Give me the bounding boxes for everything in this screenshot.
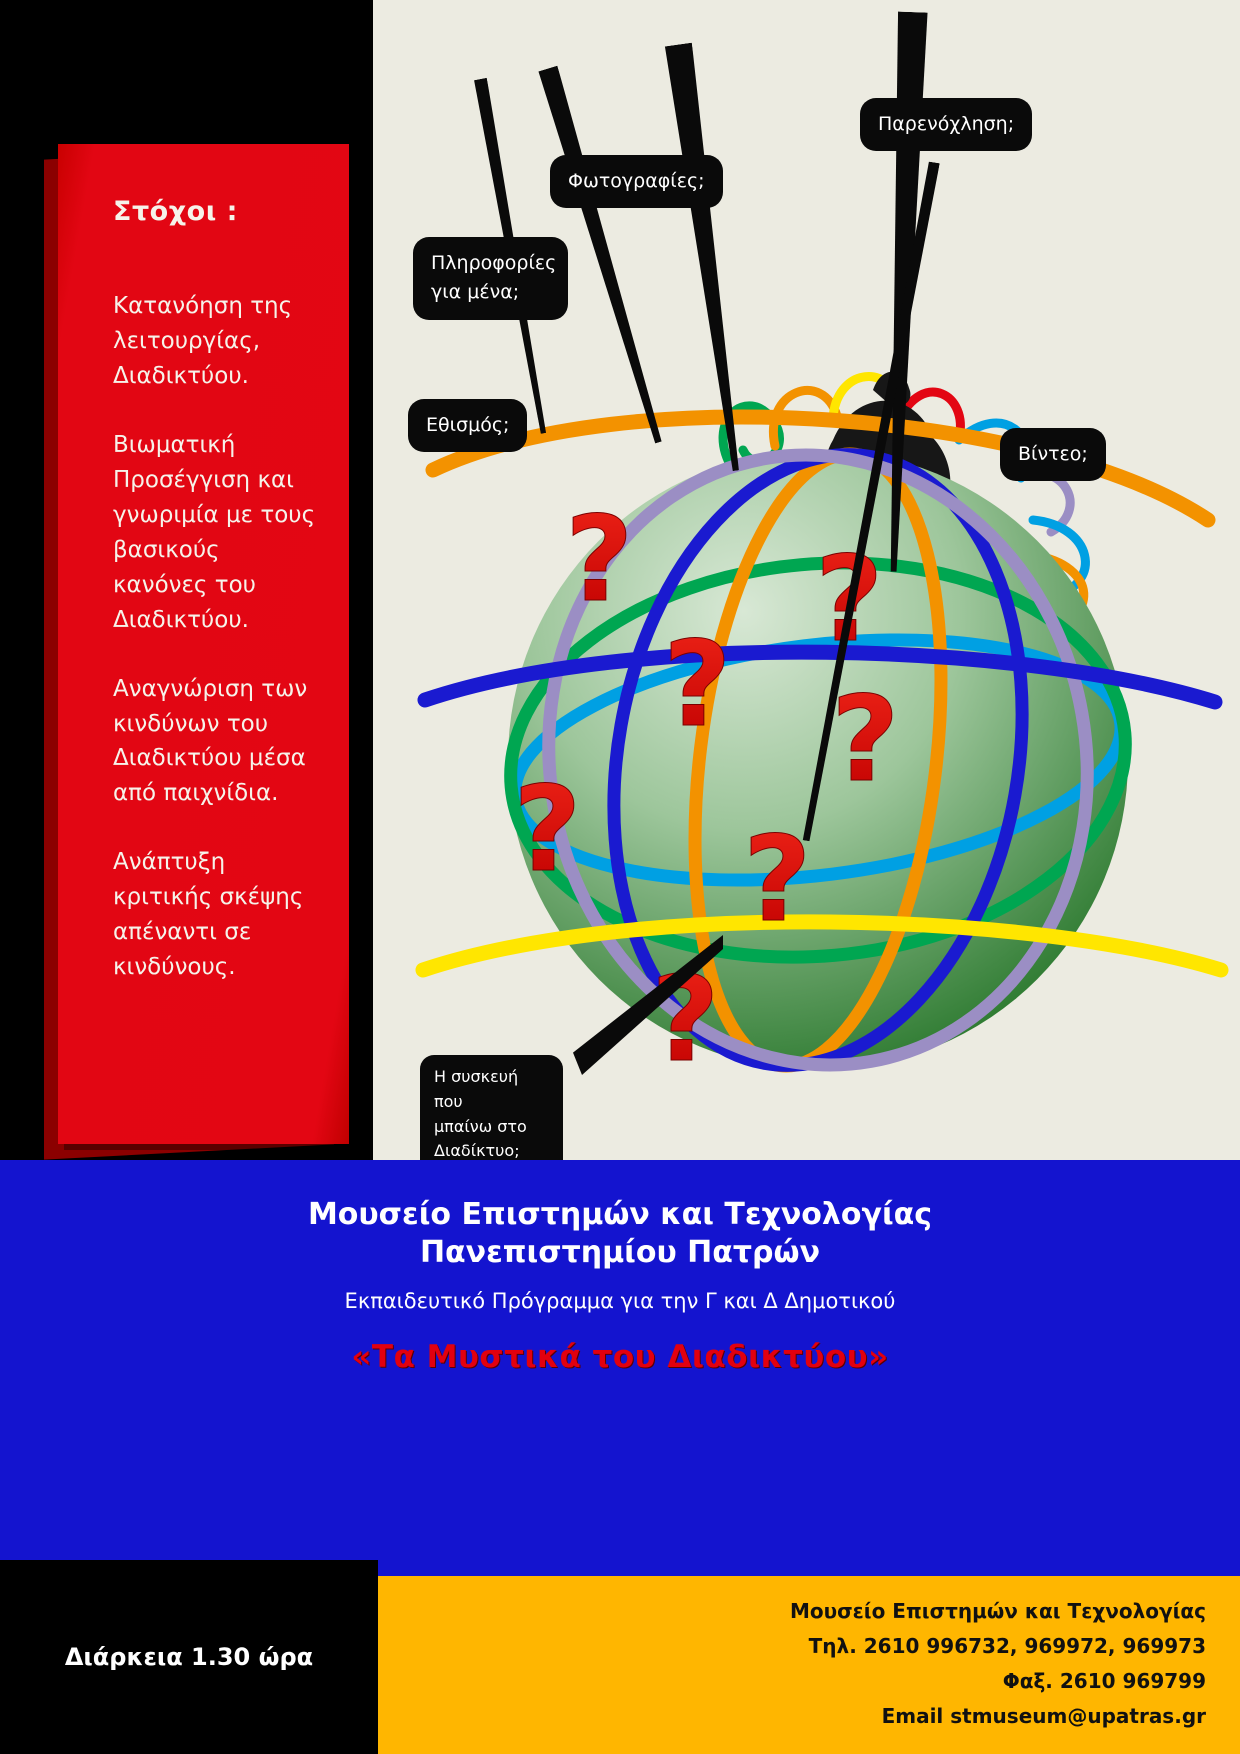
goal-item: Βιωματική Προσέγγιση και γνωριμία με του…	[113, 428, 319, 638]
museum-title-line1: Μουσείο Επιστημών και Τεχνολογίας	[0, 1196, 1240, 1234]
goal-item: Αναγνώριση των κινδύνων του Διαδικτύου μ…	[113, 672, 319, 812]
program-audience: Εκπαιδευτικό Πρόγραμμα για την Γ και Δ Δ…	[0, 1289, 1240, 1313]
museum-title-line2: Πανεπιστημίου Πατρών	[0, 1234, 1240, 1272]
svg-text:?: ?	[565, 490, 633, 628]
bubble-device[interactable]: Η συσκευή που μπαίνω στο Διαδίκτυο;	[420, 1055, 563, 1160]
goal-item: Ανάπτυξη κριτικής σκέψης απέναντι σε κιν…	[113, 845, 319, 985]
contact-email[interactable]: Email stmuseum@upatras.gr	[378, 1699, 1206, 1734]
museum-title: Μουσείο Επιστημών και Τεχνολογίας Πανεπι…	[0, 1160, 1240, 1271]
poster-root: ? ? ? ? ? ? ? Παρενόχληση; Φωτογραφίες; …	[0, 0, 1240, 1754]
bubble-video[interactable]: Βίντεο;	[1000, 428, 1106, 481]
svg-text:?: ?	[831, 670, 899, 808]
museum-banner: Μουσείο Επιστημών και Τεχνολογίας Πανεπι…	[0, 1160, 1240, 1410]
bubble-addiction[interactable]: Εθισμός;	[408, 399, 527, 452]
duration-label: Διάρκεια 1.30 ώρα	[0, 1560, 378, 1754]
contact-line: Φαξ. 2610 969799	[378, 1664, 1206, 1699]
svg-text:?: ?	[743, 810, 811, 948]
goals-title: Στόχοι :	[113, 196, 319, 227]
goals-box: Στόχοι : Κατανόηση της λειτουργίας, Διαδ…	[58, 144, 349, 1144]
bubble-info-about-me[interactable]: Πληροφορίες για μένα;	[413, 237, 568, 320]
svg-text:?: ?	[513, 760, 581, 898]
contact-line: Μουσείο Επιστημών και Τεχνολογίας	[378, 1594, 1206, 1629]
program-title: «Τα Μυστικά του Διαδικτύου»	[0, 1339, 1240, 1375]
bubble-photos[interactable]: Φωτογραφίες;	[550, 155, 723, 208]
bubble-harassment[interactable]: Παρενόχληση;	[860, 98, 1032, 151]
svg-text:?: ?	[663, 615, 731, 753]
goal-item: Κατανόηση της λειτουργίας, Διαδικτύου.	[113, 289, 319, 394]
main-illustration-panel: ? ? ? ? ? ? ? Παρενόχληση; Φωτογραφίες; …	[373, 0, 1240, 1160]
contact-box: Μουσείο Επιστημών και Τεχνολογίας Τηλ. 2…	[378, 1576, 1240, 1754]
contact-line: Τηλ. 2610 996732, 969972, 969973	[378, 1629, 1206, 1664]
globe-illustration: ? ? ? ? ? ? ?	[403, 270, 1233, 1100]
